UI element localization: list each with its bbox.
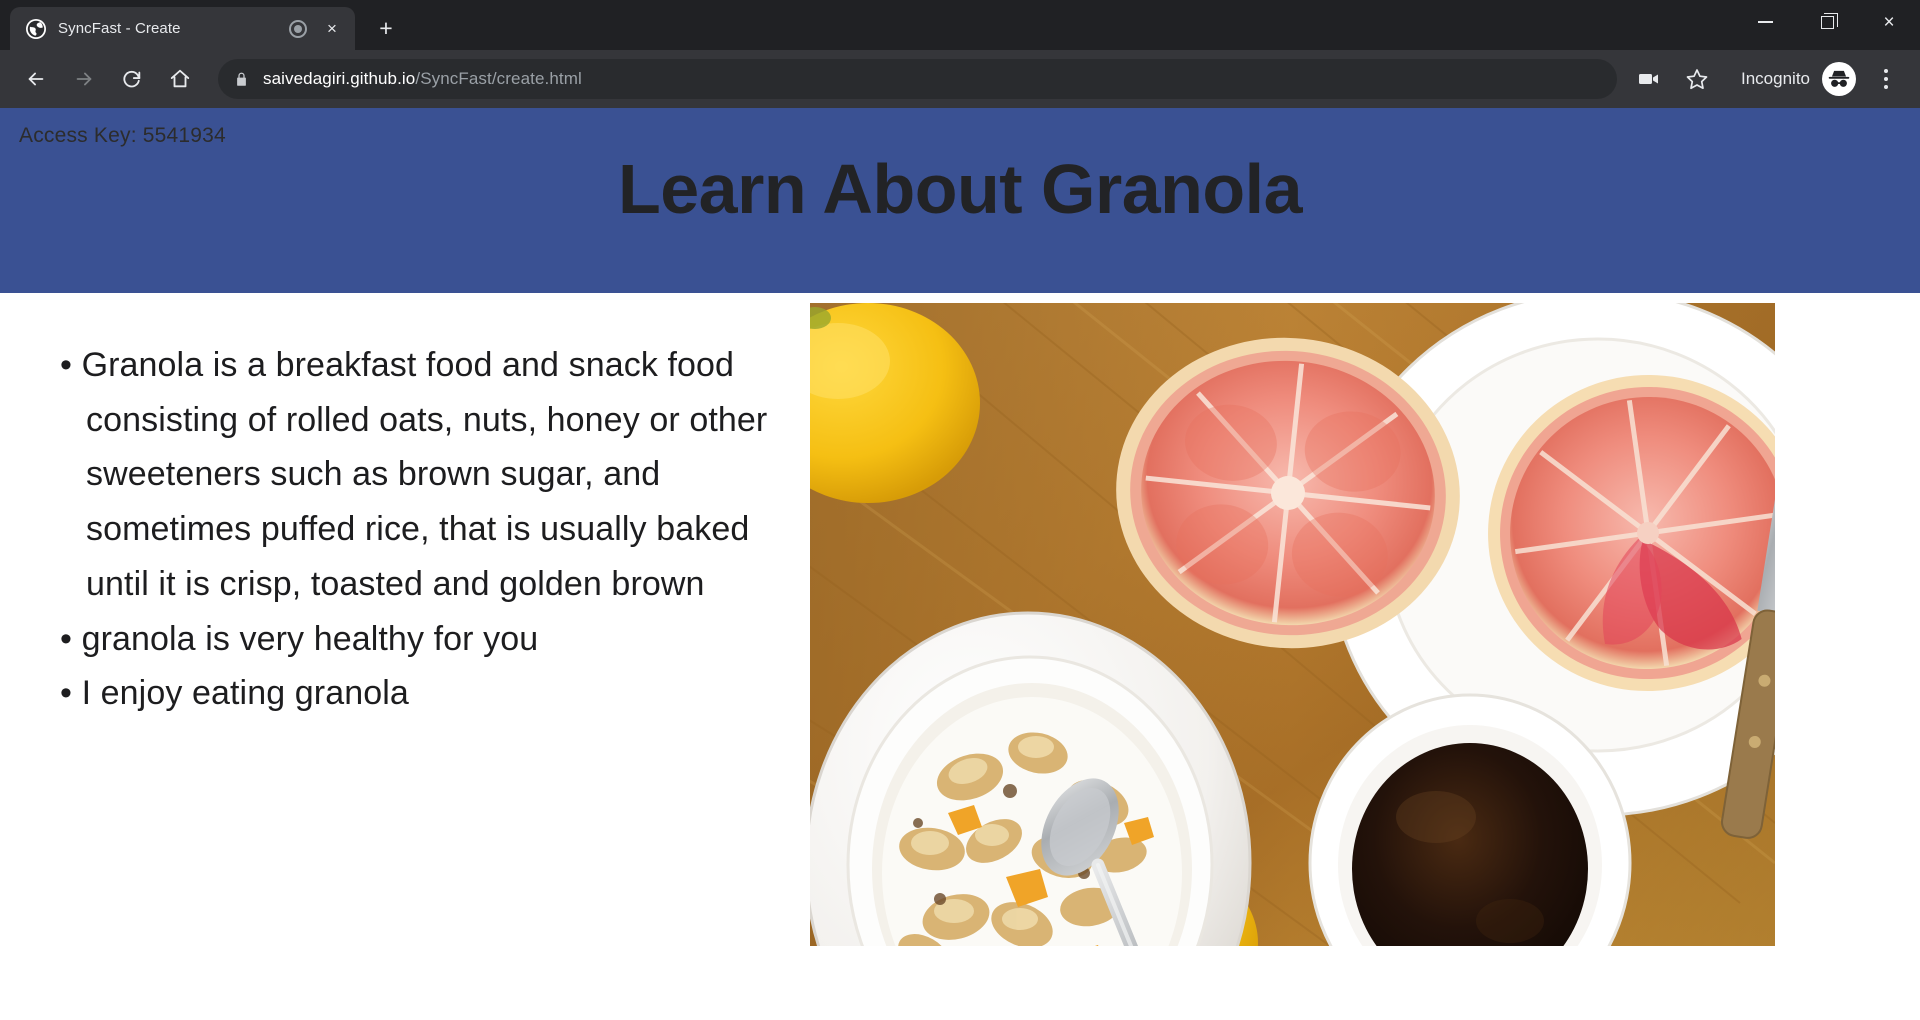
page-content: Granola is a breakfast food and snack fo… xyxy=(0,293,1920,946)
browser-tab[interactable]: SyncFast - Create × xyxy=(10,7,355,50)
url-text: saivedagiri.github.io/SyncFast/create.ht… xyxy=(263,69,582,89)
browser-window: SyncFast - Create × + × saivedagir xyxy=(0,0,1920,1020)
granola-photo-column xyxy=(810,303,1775,946)
syncfast-globe-favicon xyxy=(26,19,46,39)
restore-window-button[interactable] xyxy=(1796,0,1858,44)
browser-menu-icon[interactable] xyxy=(1866,57,1906,101)
list-item: Granola is a breakfast food and snack fo… xyxy=(60,338,810,612)
browser-toolbar: saivedagiri.github.io/SyncFast/create.ht… xyxy=(0,50,1920,108)
incognito-avatar-icon xyxy=(1822,62,1856,96)
page-title: Learn About Granola xyxy=(0,149,1920,229)
tab-strip: SyncFast - Create × + × xyxy=(0,0,1920,50)
page-viewport: Access Key: 5541934 Learn About Granola … xyxy=(0,108,1920,1020)
window-controls: × xyxy=(1734,0,1920,44)
recording-indicator-icon xyxy=(289,20,307,38)
forward-icon[interactable] xyxy=(62,57,106,101)
address-bar[interactable]: saivedagiri.github.io/SyncFast/create.ht… xyxy=(218,59,1617,99)
secure-lock-icon xyxy=(234,71,249,88)
profile-label: Incognito xyxy=(1741,69,1810,89)
url-host: saivedagiri.github.io xyxy=(263,69,415,88)
close-window-button[interactable]: × xyxy=(1858,0,1920,44)
home-icon[interactable] xyxy=(158,57,202,101)
access-key-text: Access Key: 5541934 xyxy=(19,124,226,148)
bookmark-star-icon[interactable] xyxy=(1675,57,1719,101)
page-header-banner: Access Key: 5541934 Learn About Granola xyxy=(0,108,1920,293)
video-camera-icon[interactable] xyxy=(1627,57,1671,101)
list-item: I enjoy eating granola xyxy=(60,666,810,721)
granola-facts-column: Granola is a breakfast food and snack fo… xyxy=(0,303,810,721)
granola-facts-list: Granola is a breakfast food and snack fo… xyxy=(60,338,810,721)
reload-icon[interactable] xyxy=(110,57,154,101)
profile-indicator[interactable]: Incognito xyxy=(1723,57,1862,101)
tab-title: SyncFast - Create xyxy=(58,20,277,37)
tab-close-icon[interactable]: × xyxy=(319,16,345,42)
granola-breakfast-photo xyxy=(810,303,1775,946)
url-path: /SyncFast/create.html xyxy=(415,69,582,88)
minimize-window-button[interactable] xyxy=(1734,0,1796,44)
new-tab-button[interactable]: + xyxy=(369,11,403,45)
list-item: granola is very healthy for you xyxy=(60,612,810,667)
back-icon[interactable] xyxy=(14,57,58,101)
